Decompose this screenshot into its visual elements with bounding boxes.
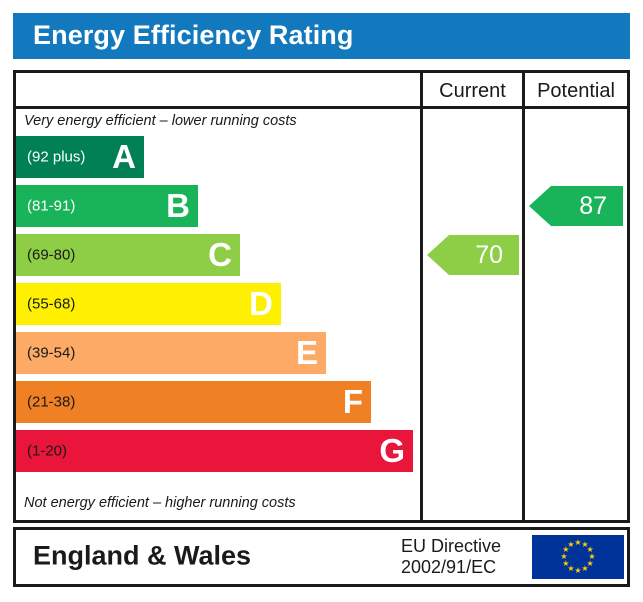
column-divider-current	[420, 73, 423, 520]
eu-star-icon: ★	[562, 560, 570, 568]
rating-value-current: 70	[475, 241, 503, 270]
band-a: (92 plus)A	[16, 136, 144, 178]
band-f: (21-38)F	[16, 381, 371, 423]
band-letter-b: B	[166, 189, 190, 222]
eu-star-icon: ★	[581, 565, 589, 573]
band-b: (81-91)B	[16, 185, 198, 227]
eu-star-icon: ★	[560, 553, 568, 561]
band-c: (69-80)C	[16, 234, 240, 276]
band-d: (55-68)D	[16, 283, 281, 325]
band-e: (39-54)E	[16, 332, 326, 374]
footer-directive-line2: 2002/91/EC	[401, 557, 501, 578]
column-header-potential: Potential	[525, 77, 627, 105]
band-letter-d: D	[249, 287, 273, 320]
band-letter-f: F	[343, 385, 363, 418]
footer-directive-label: EU Directive 2002/91/EC	[401, 536, 501, 578]
column-divider-potential	[522, 73, 525, 520]
band-letter-a: A	[112, 140, 136, 173]
caption-efficient: Very energy efficient – lower running co…	[24, 113, 297, 129]
title-bar: Energy Efficiency Rating	[13, 13, 630, 59]
footer-directive-line1: EU Directive	[401, 536, 501, 557]
eu-star-icon: ★	[567, 541, 575, 549]
column-header-current: Current	[423, 77, 522, 105]
footer-region-label: England & Wales	[33, 540, 251, 571]
page-title: Energy Efficiency Rating	[33, 20, 353, 51]
rating-arrow-current: 70	[427, 235, 519, 275]
band-range-e: (39-54)	[27, 345, 75, 362]
band-range-c: (69-80)	[27, 247, 75, 264]
band-g: (1-20)G	[16, 430, 413, 472]
rating-table: Current Potential Very energy efficient …	[13, 70, 630, 523]
eu-star-icon: ★	[574, 567, 582, 575]
band-range-f: (21-38)	[27, 394, 75, 411]
band-range-b: (81-91)	[27, 198, 75, 215]
band-range-a: (92 plus)	[27, 149, 85, 166]
band-range-d: (55-68)	[27, 296, 75, 313]
caption-inefficient: Not energy efficient – higher running co…	[24, 495, 296, 511]
band-letter-c: C	[208, 238, 232, 271]
eu-flag-icon: ★★★★★★★★★★★★	[532, 535, 624, 579]
rating-value-potential: 87	[579, 192, 607, 221]
band-letter-g: G	[379, 434, 405, 467]
band-letter-e: E	[296, 336, 318, 369]
rating-arrow-potential: 87	[529, 186, 623, 226]
band-range-g: (1-20)	[27, 443, 67, 460]
footer-bar: England & Wales EU Directive 2002/91/EC …	[13, 527, 630, 587]
epc-certificate-graph: Energy Efficiency Rating Current Potenti…	[0, 0, 643, 602]
